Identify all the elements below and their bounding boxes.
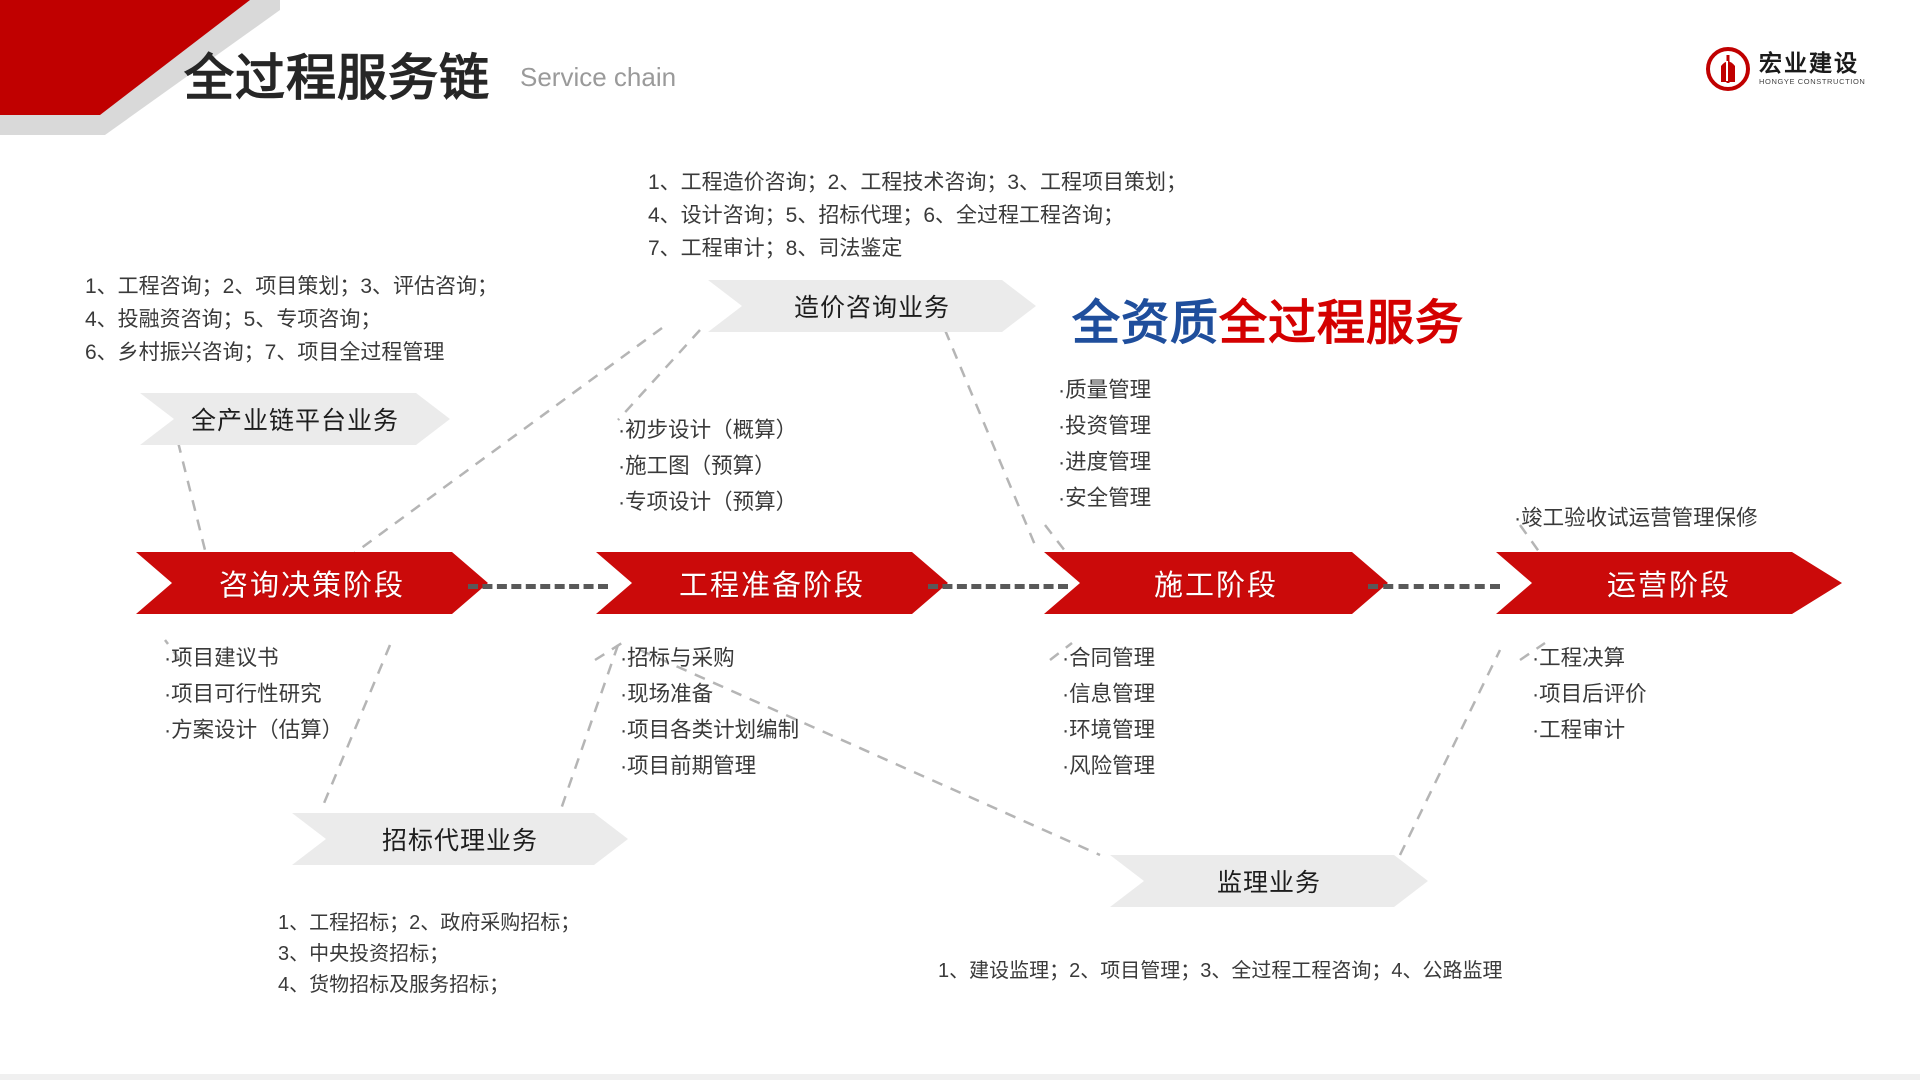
stage-label: 工程准备阶段	[679, 562, 865, 604]
text-block-supervision: 1、建设监理；2、项目管理；3、全过程工程咨询；4、公路监理	[938, 956, 1503, 987]
stage-label: 运营阶段	[1607, 562, 1731, 604]
text-block-cost-consulting: 1、工程造价咨询；2、工程技术咨询；3、工程项目策划； 4、设计咨询；5、招标代…	[648, 166, 1187, 265]
text-line: 1、工程造价咨询；2、工程技术咨询；3、工程项目策划；	[648, 166, 1187, 199]
text-line: 1、建设监理；2、项目管理；3、全过程工程咨询；4、公路监理	[938, 956, 1503, 987]
logo-text: 宏业建设 HONGYE CONSTRUCTION	[1759, 52, 1865, 86]
text-line: 4、设计咨询；5、招标代理；6、全过程工程咨询；	[648, 199, 1187, 232]
list-item: ·投资管理	[1058, 408, 1151, 444]
list-consulting-decision: ·项目建议书 ·项目可行性研究 ·方案设计（估算）	[164, 640, 343, 748]
stage-operation[interactable]: 运营阶段	[1496, 552, 1842, 614]
list-item: ·进度管理	[1058, 444, 1151, 480]
list-item: ·招标与采购	[620, 640, 799, 676]
list-operation-top: ·竣工验收试运营管理保修	[1514, 500, 1758, 536]
list-item: ·风险管理	[1062, 748, 1155, 784]
list-operation-bottom: ·工程决算 ·项目后评价 ·工程审计	[1532, 640, 1647, 748]
logo-emblem-icon	[1705, 46, 1751, 92]
list-item: ·环境管理	[1062, 712, 1155, 748]
list-item: ·信息管理	[1062, 676, 1155, 712]
list-item: ·合同管理	[1062, 640, 1155, 676]
chevron-bidding-agency[interactable]: 招标代理业务	[292, 813, 628, 865]
text-line: 6、乡村振兴咨询；7、项目全过程管理	[85, 336, 498, 369]
list-item: ·施工图（预算）	[618, 448, 797, 484]
slide-canvas: 全过程服务链 Service chain 宏业建设 HONGYE CONSTRU…	[0, 0, 1920, 1080]
stage-label: 施工阶段	[1154, 562, 1278, 604]
chevron-full-industry-chain-platform[interactable]: 全产业链平台业务	[140, 393, 450, 445]
slogan-blue-part: 全资质	[1072, 297, 1219, 350]
list-item: ·项目各类计划编制	[620, 712, 799, 748]
chevron-label: 监理业务	[1217, 863, 1321, 899]
connector-stage-2-3	[928, 584, 1068, 589]
list-construction-mgmt-bottom: ·合同管理 ·信息管理 ·环境管理 ·风险管理	[1062, 640, 1155, 784]
list-item: ·项目可行性研究	[164, 676, 343, 712]
stage-consulting-decision[interactable]: 咨询决策阶段	[136, 552, 488, 614]
page-subtitle: Service chain	[520, 62, 676, 93]
list-item: ·现场准备	[620, 676, 799, 712]
list-item: ·竣工验收试运营管理保修	[1514, 500, 1758, 536]
list-item: ·专项设计（预算）	[618, 484, 797, 520]
chevron-cost-consulting[interactable]: 造价咨询业务	[708, 280, 1036, 332]
list-item: ·项目前期管理	[620, 748, 799, 784]
page-title: 全过程服务链	[184, 38, 490, 110]
list-item: ·工程决算	[1532, 640, 1647, 676]
list-item: ·质量管理	[1058, 372, 1151, 408]
slogan: 全资质全过程服务	[1072, 283, 1464, 353]
logo-name-en: HONGYE CONSTRUCTION	[1759, 78, 1865, 86]
stage-label: 咨询决策阶段	[219, 562, 405, 604]
text-line: 1、工程招标；2、政府采购招标；	[278, 908, 580, 939]
list-project-preparation: ·招标与采购 ·现场准备 ·项目各类计划编制 ·项目前期管理	[620, 640, 799, 784]
connector-stage-3-4	[1368, 584, 1500, 589]
chevron-label: 全产业链平台业务	[191, 401, 399, 437]
list-item: ·初步设计（概算）	[618, 412, 797, 448]
list-design-stage: ·初步设计（概算） ·施工图（预算） ·专项设计（预算）	[618, 412, 797, 520]
chevron-label: 招标代理业务	[382, 821, 538, 857]
list-item: ·项目后评价	[1532, 676, 1647, 712]
connector-stage-1-2	[468, 584, 608, 589]
list-item: ·工程审计	[1532, 712, 1647, 748]
list-item: ·项目建议书	[164, 640, 343, 676]
text-line: 1、工程咨询；2、项目策划；3、评估咨询；	[85, 270, 498, 303]
stage-construction[interactable]: 施工阶段	[1044, 552, 1388, 614]
text-block-bidding-agency: 1、工程招标；2、政府采购招标； 3、中央投资招标； 4、货物招标及服务招标；	[278, 908, 580, 1001]
slogan-red-part: 全过程服务	[1219, 297, 1464, 350]
logo-name-cn: 宏业建设	[1759, 52, 1865, 75]
text-line: 3、中央投资招标；	[278, 939, 580, 970]
text-line: 4、货物招标及服务招标；	[278, 970, 580, 1001]
text-block-full-industry-chain: 1、工程咨询；2、项目策划；3、评估咨询； 4、投融资咨询；5、专项咨询； 6、…	[85, 270, 498, 369]
text-line: 4、投融资咨询；5、专项咨询；	[85, 303, 498, 336]
list-construction-mgmt-top: ·质量管理 ·投资管理 ·进度管理 ·安全管理	[1058, 372, 1151, 516]
list-item: ·方案设计（估算）	[164, 712, 343, 748]
bottom-divider	[0, 1074, 1920, 1080]
company-logo: 宏业建设 HONGYE CONSTRUCTION	[1705, 46, 1865, 92]
chevron-label: 造价咨询业务	[794, 288, 950, 324]
list-item: ·安全管理	[1058, 480, 1151, 516]
text-line: 7、工程审计；8、司法鉴定	[648, 232, 1187, 265]
chevron-supervision[interactable]: 监理业务	[1110, 855, 1428, 907]
stage-project-preparation[interactable]: 工程准备阶段	[596, 552, 948, 614]
